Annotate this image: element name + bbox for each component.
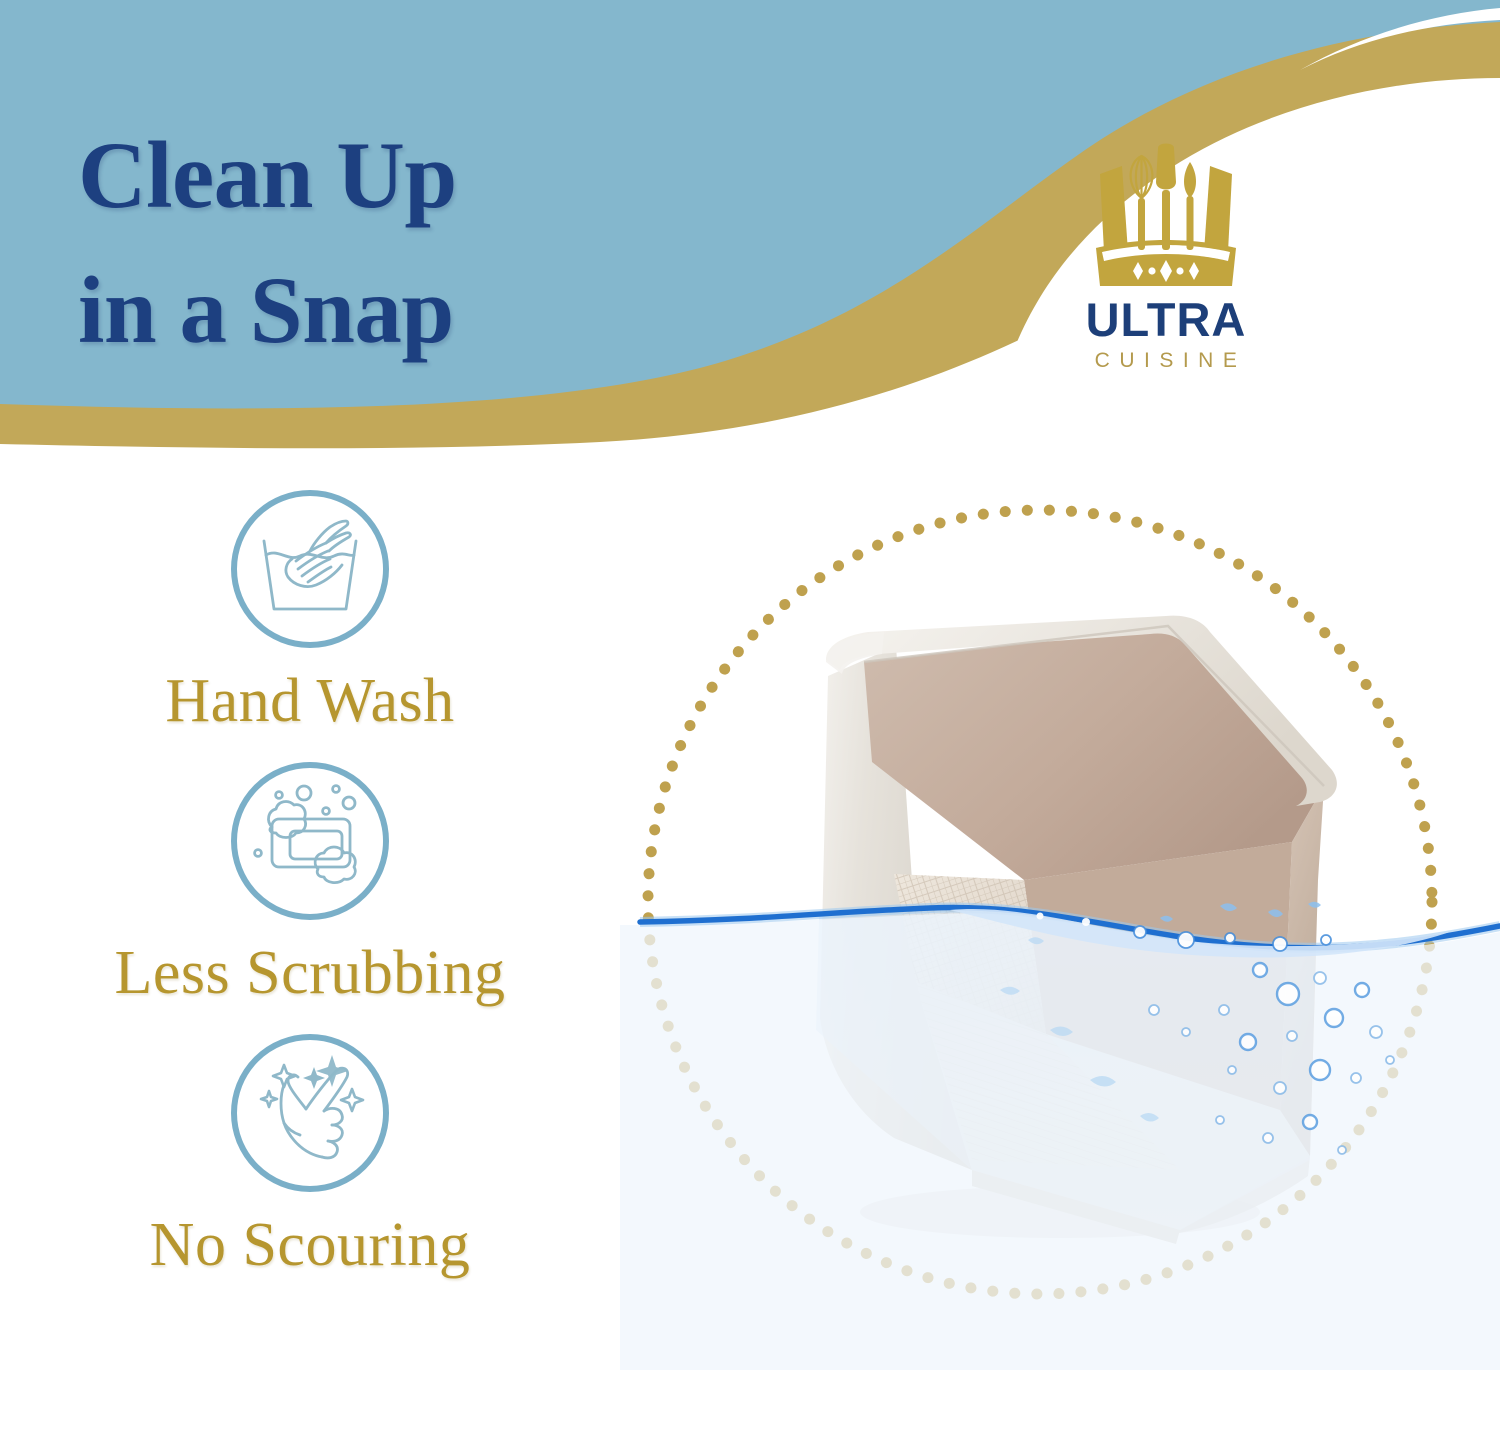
headline-line-2: in a Snap: [78, 243, 718, 378]
crown-of-utensils-icon: [1066, 140, 1266, 290]
logo-brand-tagline: CUISINE: [1046, 350, 1286, 371]
pan-interior-back: [864, 626, 1324, 880]
product-image: [620, 470, 1500, 1390]
page-title: Clean Up in a Snap: [78, 108, 718, 378]
feature-label: Less Scrubbing: [0, 941, 620, 1006]
soap-suds-icon: [226, 757, 394, 925]
feature-item: Hand Wash: [0, 485, 620, 734]
hand-wash-icon: [226, 485, 394, 653]
infographic-page: Clean Up in a Snap: [0, 0, 1500, 1440]
feature-item: Less Scrubbing: [0, 757, 620, 1006]
brand-logo: ULTRA CUISINE: [1046, 140, 1286, 371]
logo-brand-name: ULTRA: [1046, 296, 1286, 343]
headline-line-1: Clean Up: [78, 122, 457, 228]
feature-item: No Scouring: [0, 1029, 620, 1278]
loaf-pan-in-water-illustration: [620, 470, 1500, 1390]
feature-label: Hand Wash: [0, 669, 620, 734]
feature-label: No Scouring: [0, 1213, 620, 1278]
sparkle-hand-icon: [226, 1029, 394, 1197]
feature-list: Hand Wash: [0, 485, 620, 1278]
